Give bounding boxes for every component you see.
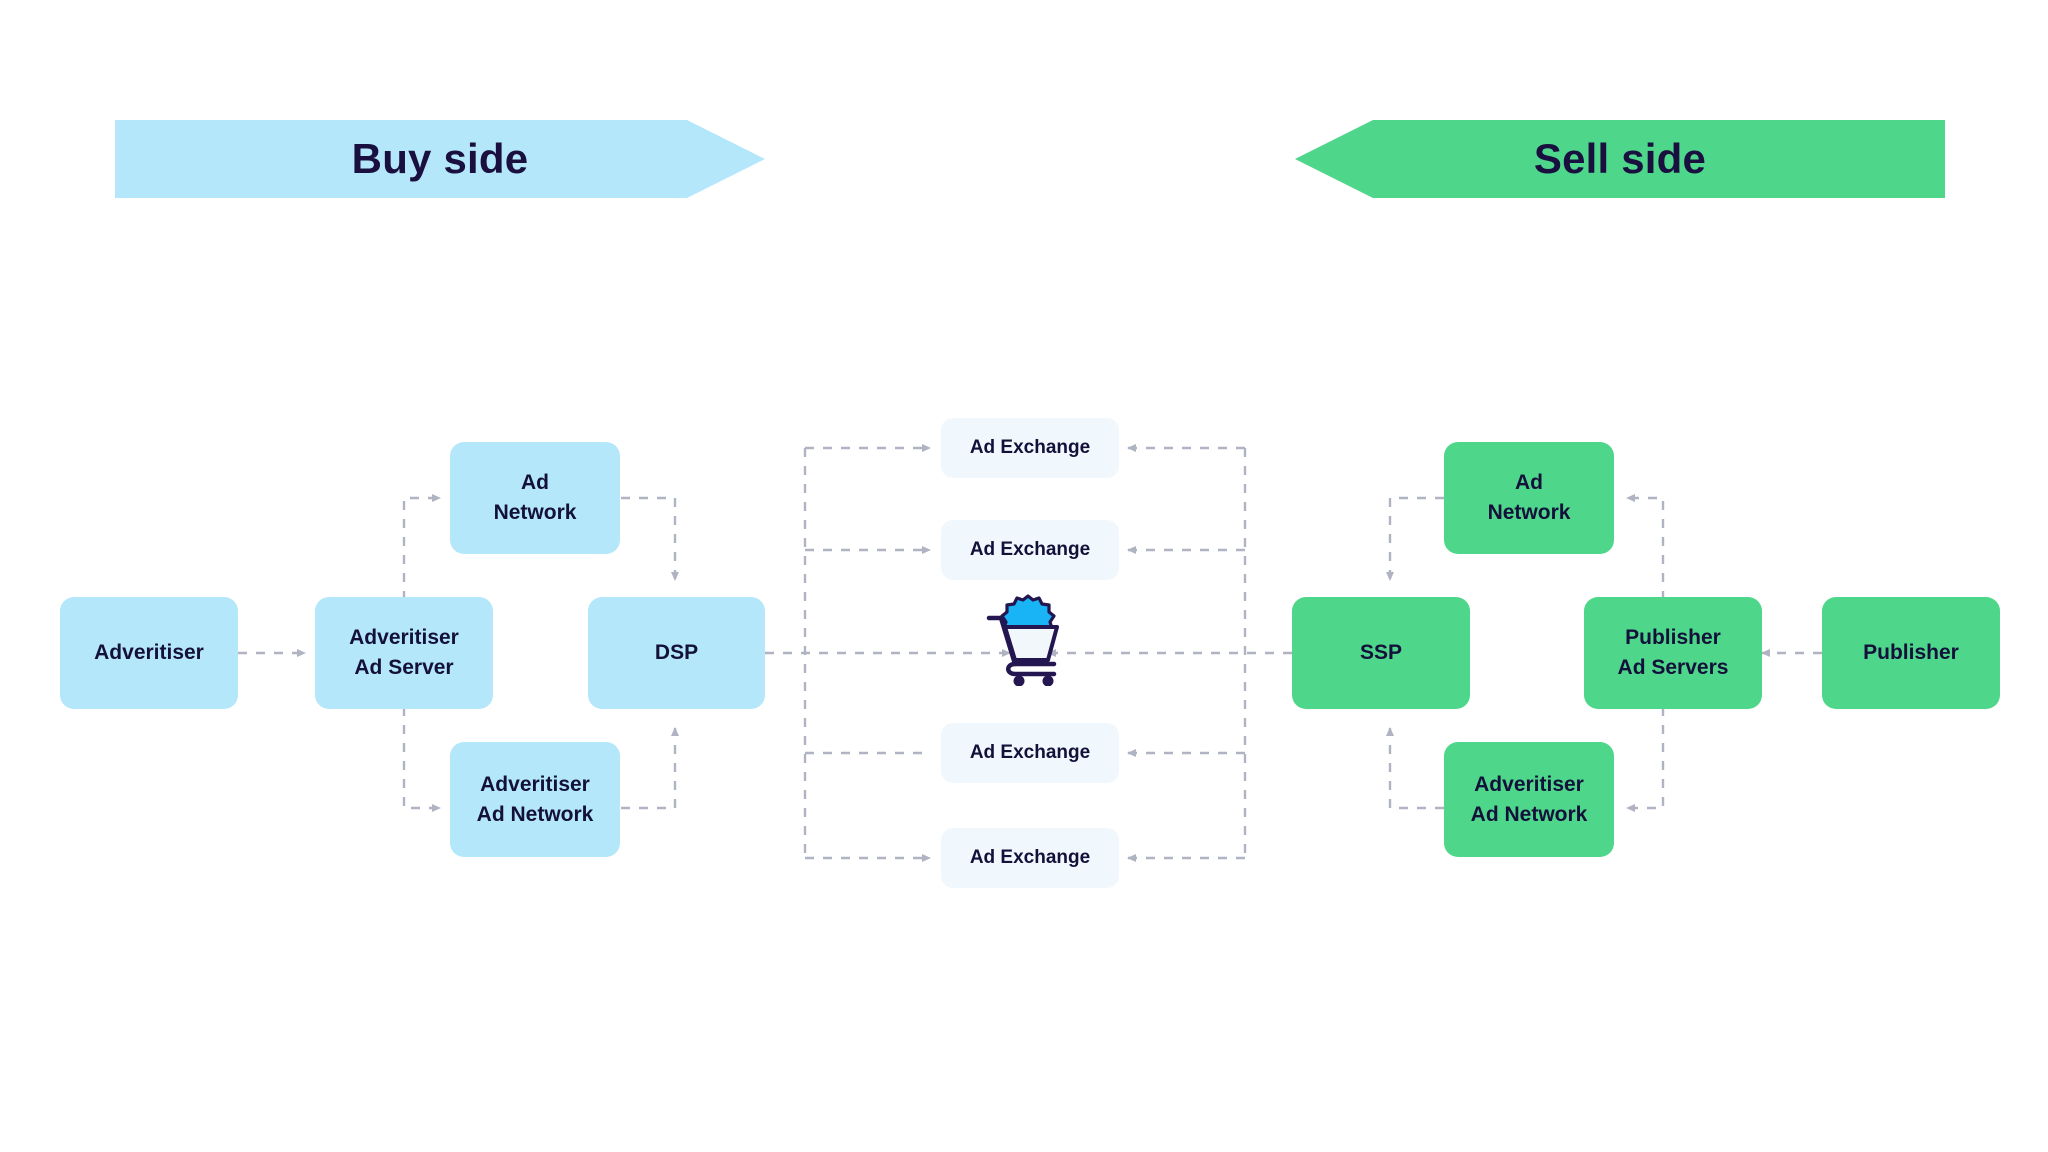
node-advertiser-ad-network-line-0: Adveritiser <box>480 770 590 800</box>
node-ad-exchange-2[interactable]: Ad Exchange <box>941 520 1119 580</box>
node-publisher-ad-servers-line-1: Ad Servers <box>1618 653 1729 683</box>
banner-sell-side: Sell side <box>1295 120 1945 198</box>
edge-selladvnetwork-to-ssp <box>1390 728 1444 808</box>
shopping-cart-gear-icon <box>985 594 1071 686</box>
node-sell-ad-network[interactable]: Ad Network <box>1444 442 1614 554</box>
node-ad-exchange-1-label: Ad Exchange <box>970 435 1090 462</box>
edge-adserver-to-advadnetwork <box>404 707 440 808</box>
node-advertiser[interactable]: Adveritiser <box>60 597 238 709</box>
node-advertiser-ad-server-line-0: Adveritiser <box>349 623 459 653</box>
node-sell-ad-network-line-0: Ad <box>1515 468 1543 498</box>
edge-pubadservers-to-adnetwork <box>1627 498 1663 600</box>
node-ad-exchange-1[interactable]: Ad Exchange <box>941 418 1119 478</box>
node-publisher-ad-servers-line-0: Publisher <box>1625 623 1721 653</box>
node-ad-network[interactable]: Ad Network <box>450 442 620 554</box>
node-ad-network-line-0: Ad <box>521 468 549 498</box>
banner-buy-side: Buy side <box>115 120 765 198</box>
node-sell-advertiser-ad-network-line-0: Adveritiser <box>1474 770 1584 800</box>
node-publisher-ad-servers[interactable]: Publisher Ad Servers <box>1584 597 1762 709</box>
node-ad-exchange-3[interactable]: Ad Exchange <box>941 723 1119 783</box>
node-ad-exchange-4-label: Ad Exchange <box>970 845 1090 872</box>
node-ad-exchange-2-label: Ad Exchange <box>970 537 1090 564</box>
node-ad-network-line-1: Network <box>494 498 577 528</box>
node-ssp-line-0: SSP <box>1360 638 1402 668</box>
node-ssp[interactable]: SSP <box>1292 597 1470 709</box>
node-sell-ad-network-line-1: Network <box>1488 498 1571 528</box>
node-publisher[interactable]: Publisher <box>1822 597 2000 709</box>
edge-selladnetwork-to-ssp <box>1390 498 1444 580</box>
edge-advadnetwork-to-dsp <box>621 728 675 808</box>
node-advertiser-ad-server[interactable]: Adveritiser Ad Server <box>315 597 493 709</box>
node-advertiser-ad-server-line-1: Ad Server <box>354 653 453 683</box>
edge-adserver-to-adnetwork <box>404 498 440 600</box>
node-sell-advertiser-ad-network[interactable]: Adveritiser Ad Network <box>1444 742 1614 857</box>
edge-pubadservers-to-advnetwork <box>1627 707 1663 808</box>
node-sell-advertiser-ad-network-line-1: Ad Network <box>1471 800 1588 830</box>
node-ad-exchange-4[interactable]: Ad Exchange <box>941 828 1119 888</box>
edge-adnetwork-to-dsp <box>621 498 675 580</box>
node-publisher-line-0: Publisher <box>1863 638 1959 668</box>
node-dsp-line-0: DSP <box>655 638 698 668</box>
node-ad-exchange-3-label: Ad Exchange <box>970 740 1090 767</box>
node-dsp[interactable]: DSP <box>588 597 765 709</box>
node-advertiser-ad-network-line-1: Ad Network <box>477 800 594 830</box>
node-advertiser-ad-network[interactable]: Adveritiser Ad Network <box>450 742 620 857</box>
diagram-canvas: Buy side Sell side Adveritiser Adveritis… <box>0 0 2048 1152</box>
node-advertiser-line-0: Adveritiser <box>94 638 204 668</box>
banner-sell-side-label: Sell side <box>1534 135 1706 183</box>
banner-buy-side-label: Buy side <box>352 135 529 183</box>
